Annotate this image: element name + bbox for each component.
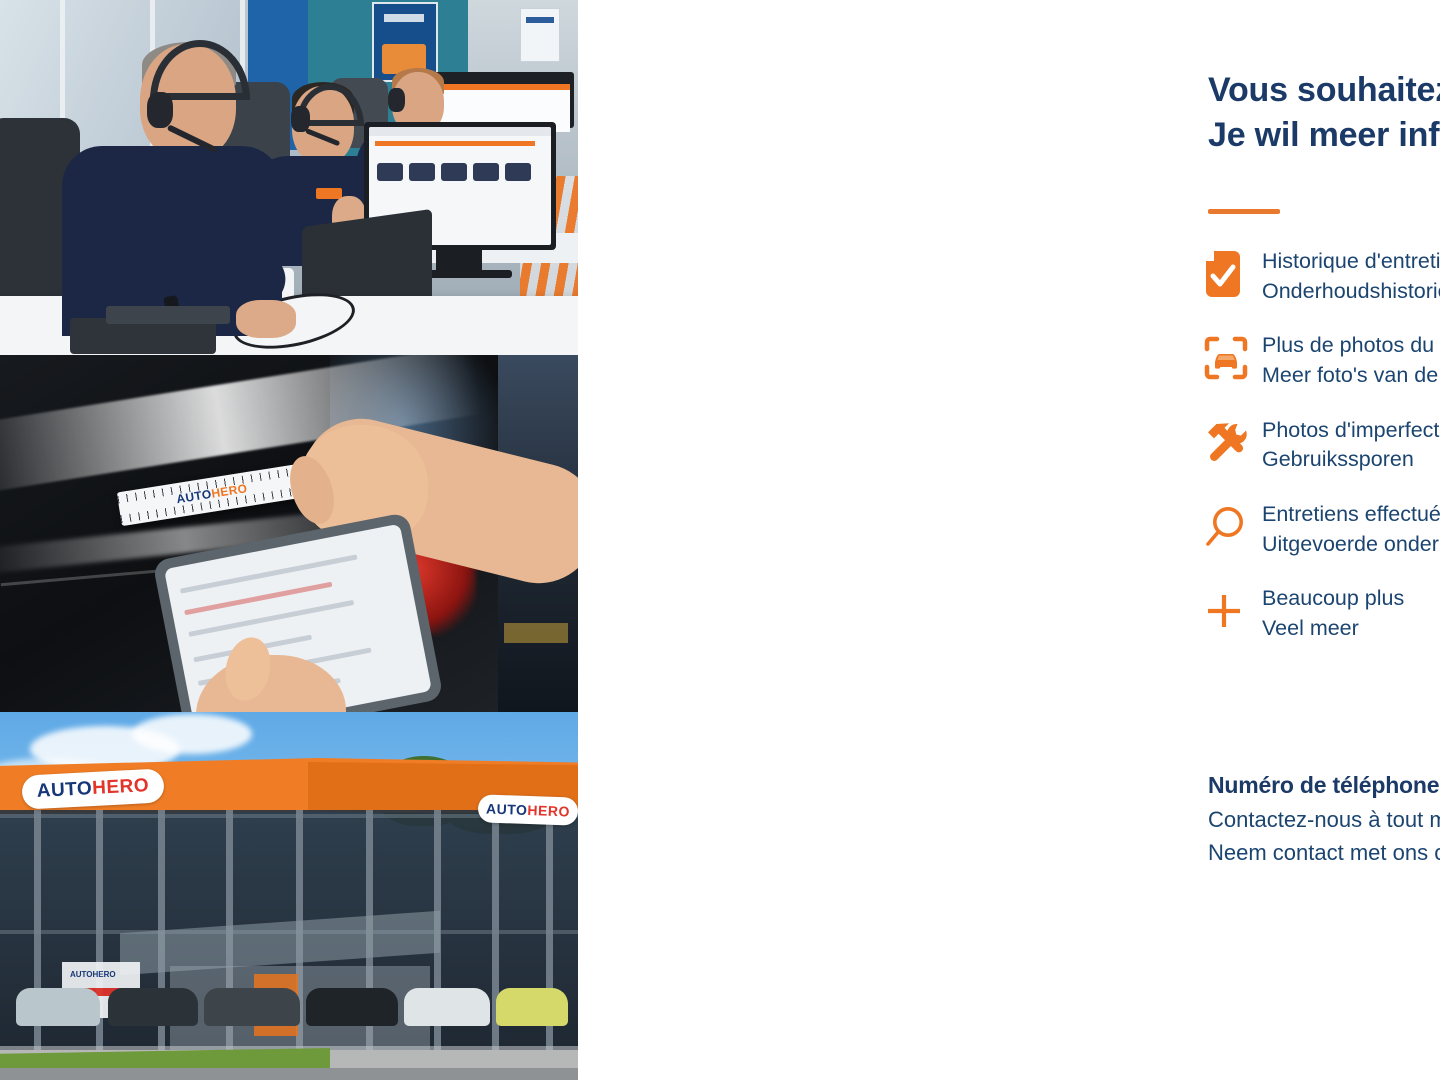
title-line-fr: Vous souhaitez plus d'informations sur /	[1208, 71, 1440, 109]
sign-text-hero: HERO	[527, 802, 570, 819]
feature-label-fr: Beaucoup plus	[1262, 584, 1404, 614]
contact-line-nl: Neem contact met ons op voor meer inform…	[1208, 836, 1440, 869]
sign-text-auto: AUTO	[36, 778, 93, 803]
plus-icon	[1200, 583, 1262, 639]
list-item-text: Plus de photos du véhicule Meer foto's v…	[1262, 330, 1440, 390]
autohero-sign-right: AUTOHERO	[478, 794, 578, 825]
showroom-car	[404, 988, 490, 1026]
list-item-text: Entretiens effectués Uitgevoerde onderho…	[1262, 499, 1440, 559]
sign-text-auto: AUTO	[486, 801, 528, 818]
feature-label-fr: Photos d'imperfections	[1262, 416, 1440, 446]
magnifier-icon	[1200, 499, 1262, 555]
road	[0, 1068, 578, 1080]
showroom-car	[16, 988, 100, 1026]
feature-label-nl: Gebruikssporen	[1262, 445, 1440, 475]
feature-label-nl: Onderhoudshistorie	[1262, 277, 1440, 307]
photo-call-center	[0, 0, 578, 355]
showroom-car	[306, 988, 398, 1026]
phone-number-label[interactable]: Numéro de téléphone / Telefoonnummer: +3…	[1208, 768, 1440, 803]
document-check-icon	[1200, 246, 1262, 302]
feature-label-fr: Historique d'entretien	[1262, 247, 1440, 277]
list-item-text: Photos d'imperfections Gebruikssporen	[1262, 415, 1440, 475]
autohero-shirt-logo	[316, 188, 342, 199]
feature-list: Historique d'entretien Onderhoudshistori…	[1200, 246, 1440, 668]
list-item: Beaucoup plus Veel meer	[1200, 583, 1440, 643]
contact-line-fr: Contactez-nous à tout moment pour plus d…	[1208, 803, 1440, 836]
page-title: Vous souhaitez plus d'informations sur /…	[1208, 68, 1440, 158]
contact-block: Numéro de téléphone / Telefoonnummer: +3…	[1208, 768, 1440, 869]
showroom-car	[204, 988, 300, 1026]
showroom-glass-facade: AUTOHERO	[0, 810, 578, 1058]
tools-icon	[1200, 415, 1262, 471]
showroom-car	[108, 988, 198, 1026]
background-monitor	[428, 72, 574, 128]
cloud	[132, 714, 252, 754]
feature-label-nl: Veel meer	[1262, 614, 1404, 644]
feature-label-fr: Entretiens effectués	[1262, 500, 1440, 530]
feature-label-fr: Plus de photos du véhicule	[1262, 331, 1440, 361]
list-item-text: Beaucoup plus Veel meer	[1262, 583, 1404, 643]
list-item-text: Historique d'entretien Onderhoudshistori…	[1262, 246, 1440, 306]
title-divider	[1208, 209, 1280, 214]
title-line-nl: Je wil meer informatie over:	[1208, 113, 1440, 158]
photo-column: AUTOHERO	[0, 0, 578, 1080]
feature-label-nl: Meer foto's van de auto	[1262, 361, 1440, 391]
list-item: Entretiens effectués Uitgevoerde onderho…	[1200, 499, 1440, 559]
wall-flyer	[520, 8, 560, 62]
poster-root: AUTOHERO	[0, 0, 1440, 1080]
showroom-car	[496, 988, 568, 1026]
feature-label-nl: Uitgevoerde onderhoudswerkzaamheden	[1262, 530, 1440, 560]
content-panel: Vous souhaitez plus d'informations sur /…	[578, 0, 1440, 1080]
list-item: Historique d'entretien Onderhoudshistori…	[1200, 246, 1440, 306]
car-scan-icon	[1200, 330, 1262, 386]
desk-notebook	[106, 306, 230, 324]
list-item: Photos d'imperfections Gebruikssporen	[1200, 415, 1440, 475]
list-item: Plus de photos du véhicule Meer foto's v…	[1200, 330, 1440, 390]
photo-car-inspection: AUTOHERO	[0, 355, 578, 712]
sign-text-hero: HERO	[92, 775, 150, 800]
photo-dealership: AUTOHERO AUTOHERO AUTOHERO	[0, 712, 578, 1080]
